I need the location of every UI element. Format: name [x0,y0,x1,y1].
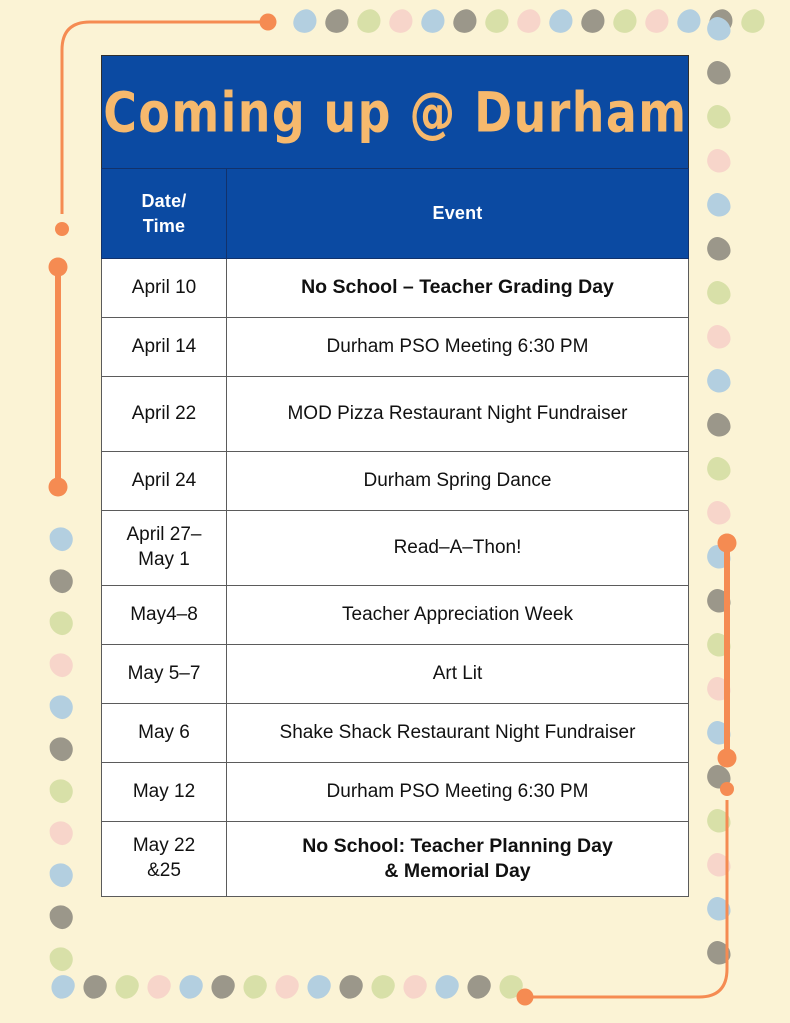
left-segment-top-dot [49,258,68,277]
cell-event: Read–A–Thon! [227,511,689,586]
petal-blob-icon [494,968,529,1005]
right-lower-dot [720,782,734,796]
table-row: April 24Durham Spring Dance [102,452,689,511]
petal-blob-icon [352,3,386,40]
petal-blob-icon [42,814,81,852]
petal-blob-icon [736,3,770,40]
petal-blob-icon [270,968,305,1005]
left-upper-dot [55,222,69,236]
cell-date: May4–8 [102,586,227,645]
table-row: April 14Durham PSO Meeting 6:30 PM [102,318,689,377]
cell-event: Teacher Appreciation Week [227,586,689,645]
petal-blob-icon [366,968,401,1005]
cell-date: April 24 [102,452,227,511]
petal-blob-icon [448,3,482,40]
right-segment-bottom-dot [718,749,737,768]
petal-blob-icon [46,968,81,1005]
petal-blob-icon [700,11,738,47]
petal-blob-icon [206,968,241,1005]
cell-event: Durham PSO Meeting 6:30 PM [227,763,689,822]
petal-blob-icon [700,187,738,223]
table-header-row: Date/ Time Event [102,169,689,259]
cell-date-line2: &25 [147,860,181,881]
petal-blob-icon [42,520,81,558]
cell-event: No School – Teacher Grading Day [227,259,689,318]
cell-date-line1: April 27– [127,524,202,545]
poster-title-band: Coming up @ Durham [101,55,689,168]
left-segment-bottom-dot [49,478,68,497]
petal-blob-icon [42,646,81,684]
column-header-date: Date/ Time [102,169,227,259]
petal-blob-icon [700,847,738,883]
schedule-table-head: Date/ Time Event [102,169,689,259]
petal-blob-icon [700,275,738,311]
table-row: April 22MOD Pizza Restaurant Night Fundr… [102,377,689,452]
petal-blob-icon [42,688,81,726]
schedule-table: Date/ Time Event April 10No School – Tea… [101,168,689,897]
petal-blob-icon [416,3,450,40]
petal-blob-icon [700,627,738,663]
petal-blob-icon [110,968,145,1005]
page-title: Coming up @ Durham [103,85,687,140]
petal-blob-icon [700,407,738,443]
petal-blob-icon [480,3,514,40]
table-row: May 12Durham PSO Meeting 6:30 PM [102,763,689,822]
petal-blob-icon [672,3,706,40]
table-row: April 10No School – Teacher Grading Day [102,259,689,318]
right-segment-top-dot [718,534,737,553]
cell-date: May 22&25 [102,822,227,897]
petal-blob-icon [384,3,418,40]
cell-date: April 10 [102,259,227,318]
cell-event-line2: & Memorial Day [384,860,530,882]
petal-blob-icon [700,891,738,927]
petal-blob-icon [700,759,738,795]
petal-blob-icon [42,856,81,894]
table-row: May 5–7Art Lit [102,645,689,704]
cell-date: May 5–7 [102,645,227,704]
cell-date: April 22 [102,377,227,452]
petal-blob-icon [512,3,546,40]
poster-page: { "theme": { "background": "#fbf3d5", "b… [0,0,790,1023]
petal-blob-icon [700,55,738,91]
cell-event: Shake Shack Restaurant Night Fundraiser [227,704,689,763]
petal-blob-icon [142,968,177,1005]
top-left-line-dot [260,14,277,31]
petal-blob-icon [78,968,113,1005]
petal-blob-icon [700,715,738,751]
petal-blob-icon [700,539,738,575]
petal-blob-icon [462,968,497,1005]
cell-event: Art Lit [227,645,689,704]
cell-event-line1: No School: Teacher Planning Day [302,835,613,857]
column-header-date-line2: Time [143,216,186,236]
petal-blob-icon [42,562,81,600]
petal-blob-icon [700,451,738,487]
petal-blob-icon [288,3,322,40]
petal-blob-icon [700,803,738,839]
petal-blob-icon [334,968,369,1005]
petal-blob-icon [42,730,81,768]
petal-blob-icon [700,363,738,399]
table-row: April 27–May 1Read–A–Thon! [102,511,689,586]
petal-blob-icon [430,968,465,1005]
petal-blob-icon [42,898,81,936]
petal-blob-icon [174,968,209,1005]
petal-blob-icon [700,99,738,135]
table-row: May4–8Teacher Appreciation Week [102,586,689,645]
petal-blob-icon [700,143,738,179]
petal-blob-icon [700,319,738,355]
cell-date-line1: May 22 [133,835,195,856]
petal-blob-icon [302,968,337,1005]
cell-event: Durham Spring Dance [227,452,689,511]
table-row: May 6Shake Shack Restaurant Night Fundra… [102,704,689,763]
schedule-table-body: April 10No School – Teacher Grading DayA… [102,259,689,897]
column-header-event: Event [227,169,689,259]
column-header-date-line1: Date/ [141,191,186,211]
table-row: May 22&25No School: Teacher Planning Day… [102,822,689,897]
petal-blob-icon [700,583,738,619]
petal-blob-icon [608,3,642,40]
cell-event: No School: Teacher Planning Day& Memoria… [227,822,689,897]
cell-date-line2: May 1 [138,549,190,570]
bottom-right-line-dot [517,989,534,1006]
cell-date: May 12 [102,763,227,822]
petal-blob-icon [238,968,273,1005]
petal-blob-icon [700,231,738,267]
petal-blob-icon [42,604,81,642]
petal-blob-icon [544,3,578,40]
petal-blob-icon [700,671,738,707]
petal-blob-icon [398,968,433,1005]
cell-date: April 27–May 1 [102,511,227,586]
petal-blob-icon [576,3,610,40]
petal-blob-icon [640,3,674,40]
cell-event: Durham PSO Meeting 6:30 PM [227,318,689,377]
petal-blob-icon [700,935,738,971]
petal-blob-icon [704,3,738,40]
cell-date: May 6 [102,704,227,763]
petal-blob-icon [42,772,81,810]
petal-blob-icon [700,495,738,531]
petal-blob-icon [320,3,354,40]
poster-card: Coming up @ Durham Date/ Time Event Apri… [101,55,689,897]
petal-blob-icon [42,940,81,978]
cell-date: April 14 [102,318,227,377]
cell-event: MOD Pizza Restaurant Night Fundraiser [227,377,689,452]
